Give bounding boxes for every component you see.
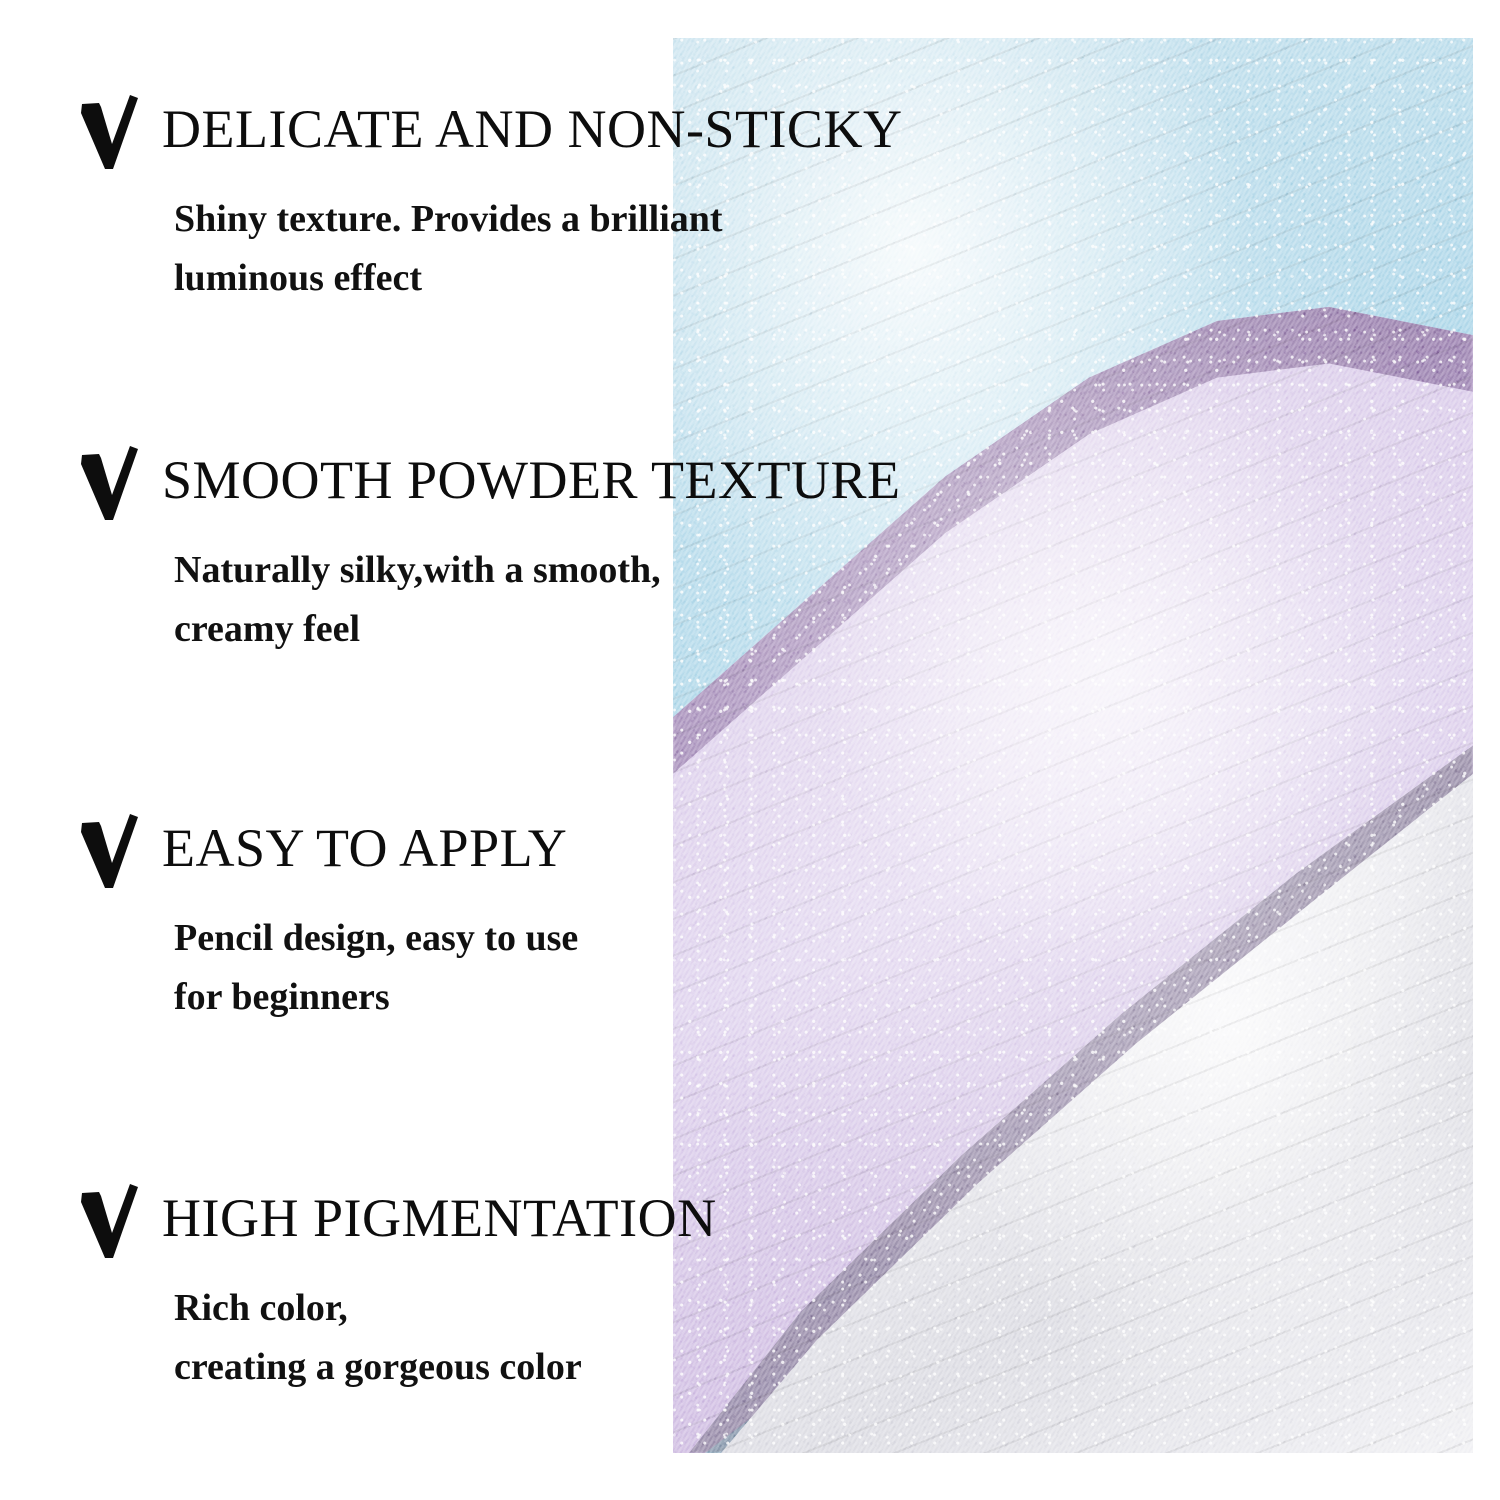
- feature-title: HIGH PIGMENTATION: [162, 1191, 717, 1246]
- feature-item-high-pigmentation: HIGH PIGMENTATION Rich color, creating a…: [78, 1185, 717, 1397]
- feature-item-easy-to-apply: EASY TO APPLY Pencil design, easy to use…: [78, 815, 578, 1027]
- feature-heading-row: EASY TO APPLY: [78, 815, 578, 891]
- product-feature-page: DELICATE AND NON-STICKY Shiny texture. P…: [0, 0, 1500, 1500]
- feature-title: DELICATE AND NON-STICKY: [162, 102, 902, 157]
- feature-description: Pencil design, easy to use for beginners: [174, 909, 578, 1027]
- feature-heading-row: DELICATE AND NON-STICKY: [78, 96, 902, 172]
- check-icon: [78, 811, 140, 891]
- feature-description: Naturally silky,with a smooth, creamy fe…: [174, 541, 901, 659]
- feature-title: SMOOTH POWDER TEXTURE: [162, 453, 901, 508]
- feature-description: Rich color, creating a gorgeous color: [174, 1279, 717, 1397]
- feature-heading-row: HIGH PIGMENTATION: [78, 1185, 717, 1261]
- feature-description: Shiny texture. Provides a brilliant lumi…: [174, 190, 902, 308]
- feature-title: EASY TO APPLY: [162, 821, 567, 876]
- check-icon: [78, 1181, 140, 1261]
- feature-item-delicate-and-non-sticky: DELICATE AND NON-STICKY Shiny texture. P…: [78, 96, 902, 308]
- check-icon: [78, 92, 140, 172]
- feature-heading-row: SMOOTH POWDER TEXTURE: [78, 447, 901, 523]
- feature-item-smooth-powder-texture: SMOOTH POWDER TEXTURE Naturally silky,wi…: [78, 447, 901, 659]
- feature-list: DELICATE AND NON-STICKY Shiny texture. P…: [0, 0, 1100, 1500]
- check-icon: [78, 443, 140, 523]
